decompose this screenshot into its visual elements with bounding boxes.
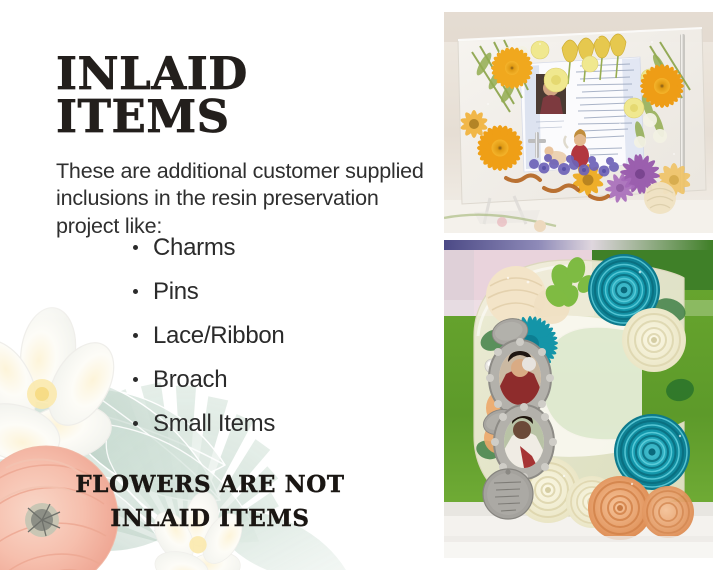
peach-rose-bottom-2 [642,486,694,538]
page-title-line-2: ITEMS [56,95,416,138]
inlaid-items-list: Charms Pins Lace/Ribbon Broach Small Ite… [125,236,425,456]
disclaimer-line-2: INLAID ITEMS [30,502,390,536]
list-item: Lace/Ribbon [125,324,425,348]
intro-paragraph: These are additional customer supplied i… [56,158,428,242]
resin-memorial-plaque-photo [444,12,713,233]
cream-rose-right [622,308,686,372]
list-item-label: Lace/Ribbon [153,322,284,349]
list-item: Small Items [125,412,425,436]
list-item-label: Pins [153,278,199,305]
disclaimer-note: FLOWERS ARE NOT INLAID ITEMS [30,468,390,535]
list-item: Broach [125,368,425,392]
list-item-label: Charms [153,234,235,261]
page-title: INLAID ITEMS [56,52,416,138]
list-item-label: Broach [153,366,227,393]
photo-locket-lower [491,403,557,481]
list-item-label: Small Items [153,410,275,437]
white-plumeria-flower [0,304,127,470]
cream-carnation [644,182,676,214]
disclaimer-line-1: FLOWERS ARE NOT [75,471,344,498]
resin-letter-c-photo [444,240,713,558]
list-item: Pins [125,280,425,304]
left-content-column: INLAID ITEMS These are additional custom… [0,0,444,570]
flyer-page: INLAID ITEMS These are additional custom… [0,0,713,570]
list-item: Charms [125,236,425,260]
memory-engraved-tag [483,469,533,519]
